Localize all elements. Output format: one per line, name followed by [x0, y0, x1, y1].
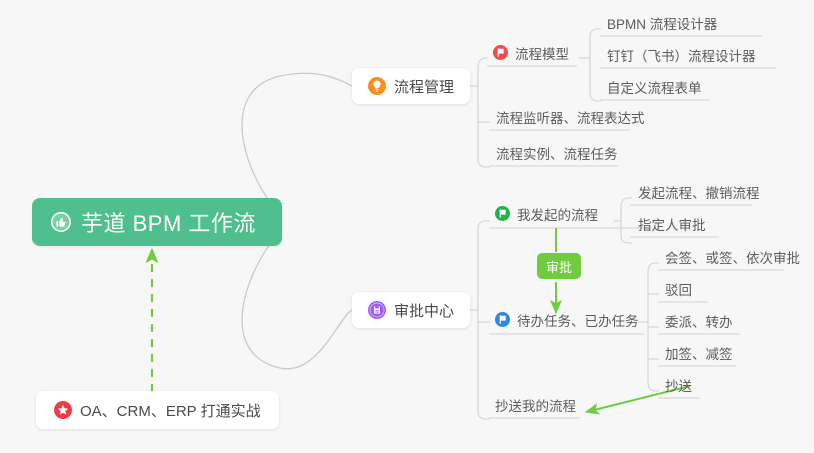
topic-node-process-model[interactable]: 流程模型: [487, 41, 575, 67]
topic-label-bpmn-designer: BPMN 流程设计器: [607, 13, 717, 33]
topic-label-cc-to-me-process: 抄送我的流程: [495, 395, 576, 415]
topic-label-process-listener-expression: 流程监听器、流程表达式: [496, 107, 645, 127]
topic-node-process-listener-expression[interactable]: 流程监听器、流程表达式: [490, 105, 651, 131]
topic-label-todo-done-tasks: 待办任务、已办任务: [517, 310, 639, 330]
branch-label-approval-center: 审批中心: [394, 300, 454, 321]
annotation-chip-label: 审批: [546, 257, 572, 276]
topic-node-dingtalk-feishu-designer[interactable]: 钉钉（飞书）流程设计器: [601, 43, 762, 69]
topic-node-delegate-transfer[interactable]: 委派、转办: [659, 309, 739, 335]
flag-icon: [495, 206, 510, 221]
topic-node-assignee-approval[interactable]: 指定人审批: [632, 212, 712, 238]
root-node[interactable]: 芋道 BPM 工作流: [32, 198, 282, 246]
topic-node-bpmn-designer[interactable]: BPMN 流程设计器: [601, 11, 723, 37]
topic-node-countersign-orsign-sequential[interactable]: 会签、或签、依次审批: [659, 245, 806, 271]
topic-label-add-remove-sign: 加签、减签: [665, 343, 733, 363]
topic-node-my-initiated-process[interactable]: 我发起的流程: [489, 202, 604, 228]
topic-node-reject[interactable]: 驳回: [659, 277, 698, 303]
floating-node-label: OA、CRM、ERP 打通实战: [80, 400, 261, 421]
topic-label-start-cancel-process: 发起流程、撤销流程: [638, 182, 760, 202]
topic-node-todo-done-tasks[interactable]: 待办任务、已办任务: [489, 308, 645, 334]
lightbulb-icon: [368, 77, 386, 95]
topic-node-process-instance-task[interactable]: 流程实例、流程任务: [490, 141, 624, 167]
star-icon: [54, 401, 72, 419]
root-label: 芋道 BPM 工作流: [81, 206, 256, 238]
topic-label-assignee-approval: 指定人审批: [638, 214, 706, 234]
topic-label-carbon-copy: 抄送: [665, 375, 692, 395]
mindmap-canvas: 芋道 BPM 工作流 流程管理 流程模型 流程监听器、流程表达式 流程实例、流程…: [0, 0, 814, 453]
floating-node-integration[interactable]: OA、CRM、ERP 打通实战: [36, 391, 279, 429]
topic-node-add-remove-sign[interactable]: 加签、减签: [659, 341, 739, 367]
flag-icon: [495, 312, 510, 327]
topic-label-custom-process-form: 自定义流程表单: [607, 77, 702, 97]
topic-label-countersign-orsign-sequential: 会签、或签、依次审批: [665, 247, 800, 267]
topic-label-process-model: 流程模型: [515, 43, 569, 63]
annotation-chip-approval: 审批: [537, 253, 581, 279]
branch-label-process-management: 流程管理: [394, 76, 454, 97]
topic-label-reject: 驳回: [665, 279, 692, 299]
branch-node-approval-center[interactable]: 审批中心: [352, 292, 470, 328]
topic-label-my-initiated-process: 我发起的流程: [517, 204, 598, 224]
topic-node-cc-to-me-process[interactable]: 抄送我的流程: [489, 393, 582, 419]
topic-label-dingtalk-feishu-designer: 钉钉（飞书）流程设计器: [607, 45, 756, 65]
document-icon: [368, 301, 386, 319]
topic-node-start-cancel-process[interactable]: 发起流程、撤销流程: [632, 180, 766, 206]
branch-node-process-management[interactable]: 流程管理: [352, 68, 470, 104]
topic-node-custom-process-form[interactable]: 自定义流程表单: [601, 75, 708, 101]
topic-label-process-instance-task: 流程实例、流程任务: [496, 143, 618, 163]
topic-label-delegate-transfer: 委派、转办: [665, 311, 733, 331]
topic-node-carbon-copy[interactable]: 抄送: [659, 373, 698, 399]
thumbs-up-icon: [50, 211, 72, 233]
flag-icon: [493, 45, 508, 60]
